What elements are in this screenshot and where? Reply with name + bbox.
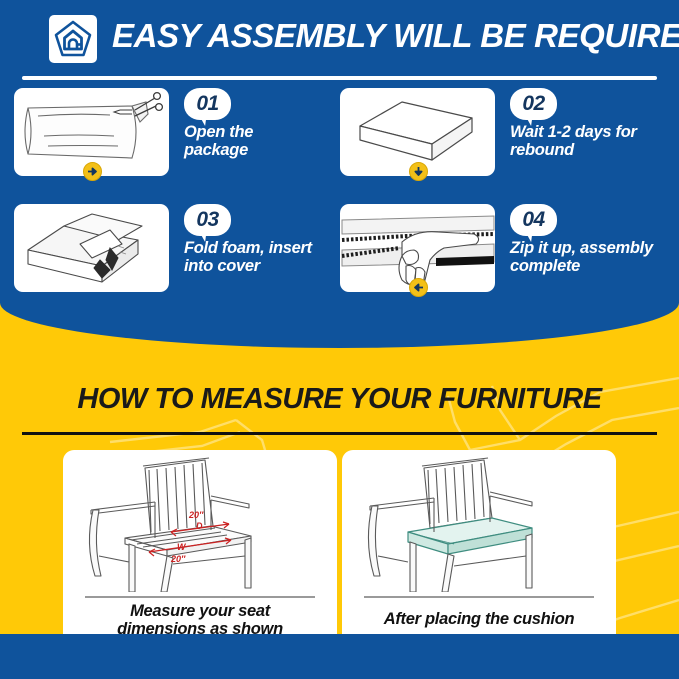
step-number-03: 03 bbox=[184, 208, 231, 232]
infographic-page: EASY ASSEMBLY WILL BE REQUIRED bbox=[0, 0, 679, 679]
step-label-line-1: Open the bbox=[184, 124, 354, 142]
header-divider bbox=[22, 76, 657, 80]
step-text-04: 04 Zip it up, assembly complete bbox=[510, 204, 679, 275]
step-text-02: 02 Wait 1-2 days for rebound bbox=[510, 88, 679, 159]
step-text-03: 03 Fold foam, insert into cover bbox=[184, 204, 354, 275]
step-label-line-2: rebound bbox=[510, 142, 679, 160]
measure-panel-cushion: After placing the cushion bbox=[342, 450, 616, 651]
arrow-down-icon bbox=[409, 162, 428, 181]
step-badge-04: 04 bbox=[510, 204, 557, 236]
panel-divider-right bbox=[364, 596, 594, 598]
step-label-line-1: Wait 1-2 days for bbox=[510, 124, 679, 142]
header: EASY ASSEMBLY WILL BE REQUIRED bbox=[0, 6, 679, 68]
step-illustration-card-04 bbox=[340, 204, 495, 292]
step-text-01: 01 Open the package bbox=[184, 88, 354, 159]
step-item-04: 04 Zip it up, assembly complete bbox=[340, 204, 670, 308]
assembly-steps: 01 Open the package bbox=[0, 88, 679, 313]
dimension-width-value: 20″ bbox=[170, 554, 186, 564]
step-badge-01: 01 bbox=[184, 88, 231, 120]
step-number-04: 04 bbox=[510, 208, 557, 232]
measure-section-divider bbox=[22, 432, 657, 435]
dimension-depth-value: 20″ bbox=[188, 510, 204, 520]
arrow-left-icon bbox=[409, 278, 428, 297]
measure-panel-dimensions: 20″ D W 20″ Measure your seat dimensions… bbox=[63, 450, 337, 651]
panel-caption-line-1: Measure your seat bbox=[71, 602, 329, 620]
step-label-line-2: complete bbox=[510, 258, 679, 276]
fold-foam-into-cover-illustration bbox=[14, 204, 169, 292]
measure-panels: 20″ D W 20″ Measure your seat dimensions… bbox=[0, 450, 679, 655]
panel-caption-line-1: After placing the cushion bbox=[350, 610, 608, 628]
bottom-blue-band bbox=[0, 634, 679, 679]
patio-chair-with-cushion-illustration bbox=[342, 452, 616, 592]
step-label-01: Open the package bbox=[184, 124, 354, 159]
patio-chair-with-dimensions-illustration: 20″ D W 20″ bbox=[63, 452, 337, 592]
measure-section-title: HOW TO MEASURE YOUR FURNITURE bbox=[0, 383, 679, 416]
step-label-line-2: package bbox=[184, 142, 354, 160]
step-label-line-1: Fold foam, insert bbox=[184, 240, 354, 258]
step-item-02: 02 Wait 1-2 days for rebound bbox=[340, 88, 670, 192]
step-illustration-card-03 bbox=[14, 204, 169, 292]
step-label-02: Wait 1-2 days for rebound bbox=[510, 124, 679, 159]
step-badge-03: 03 bbox=[184, 204, 231, 236]
dimension-depth-axis: D bbox=[196, 521, 203, 531]
panel-divider-left bbox=[85, 596, 315, 598]
step-item-03: 03 Fold foam, insert into cover bbox=[14, 204, 344, 308]
step-label-04: Zip it up, assembly complete bbox=[510, 240, 679, 275]
panel-caption-left: Measure your seat dimensions as shown bbox=[71, 602, 329, 638]
step-item-01: 01 Open the package bbox=[14, 88, 344, 192]
step-label-line-2: into cover bbox=[184, 258, 354, 276]
house-pentagon-logo-icon bbox=[49, 15, 97, 63]
panel-caption-right: After placing the cushion bbox=[350, 610, 608, 628]
step-illustration-card-01 bbox=[14, 88, 169, 176]
step-label-line-1: Zip it up, assembly bbox=[510, 240, 679, 258]
page-title: EASY ASSEMBLY WILL BE REQUIRED bbox=[112, 17, 679, 55]
step-badge-02: 02 bbox=[510, 88, 557, 120]
arrow-right-icon bbox=[83, 162, 102, 181]
step-illustration-card-02 bbox=[340, 88, 495, 176]
step-label-03: Fold foam, insert into cover bbox=[184, 240, 354, 275]
step-number-01: 01 bbox=[184, 92, 231, 116]
step-number-02: 02 bbox=[510, 92, 557, 116]
